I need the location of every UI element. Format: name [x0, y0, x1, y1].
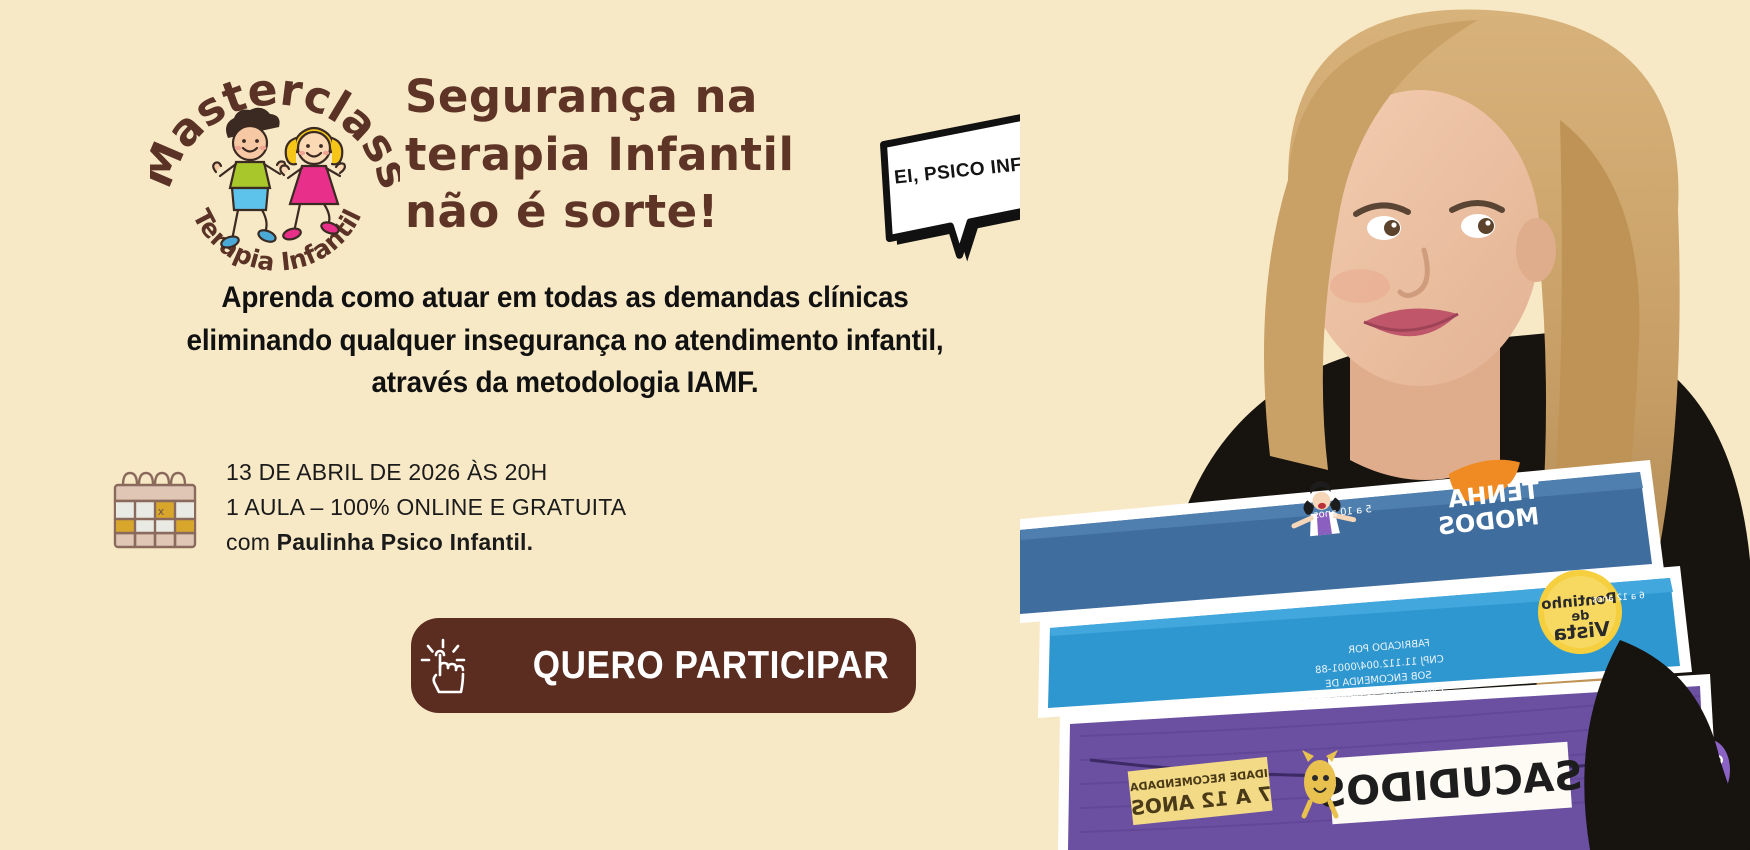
cta-button-label: QUERO PARTICIPAR: [532, 644, 888, 688]
subhead-paragraph: Aprenda como atuar em todas as demandas …: [95, 277, 1034, 405]
headline-line-1: Segurança na: [405, 68, 875, 126]
subhead-line-3: através da metodologia IAMF.: [95, 362, 1034, 405]
headline-line-2: terapia Infantil: [405, 126, 875, 184]
event-text-lines: 13 DE ABRIL DE 2026 ÀS 20H 1 AULA – 100%…: [226, 455, 626, 560]
event-host-name: Paulinha Psico Infantil.: [277, 529, 534, 555]
headline-line-3: não é sorte!: [405, 183, 875, 241]
quero-participar-button[interactable]: QUERO PARTICIPAR: [411, 618, 916, 713]
instructor-photo: TENHA MODOS 5 a 10 anos Pontinho de Vist…: [1020, 0, 1750, 850]
instructor-blush: [1330, 269, 1390, 303]
girl-illustration: [280, 128, 345, 241]
box-title-pontinho-3: Vista: [1552, 616, 1611, 645]
subhead-line-2: eliminando qualquer insegurança no atend…: [95, 320, 1034, 363]
event-host-prefix: com: [226, 529, 277, 555]
event-format: 1 AULA – 100% ONLINE E GRATUITA: [226, 490, 626, 525]
logo-bottom-arc-text: Terapia Infantil: [187, 204, 367, 272]
promo-banner: Masterclass Terapia Infantil: [0, 0, 1750, 850]
click-hand-cursor-icon: [419, 638, 467, 694]
calendar-icon: x: [108, 461, 204, 553]
event-date: 13 DE ABRIL DE 2026 ÀS 20H: [226, 455, 626, 490]
instructor-photo-svg: TENHA MODOS 5 a 10 anos Pontinho de Vist…: [1020, 0, 1750, 850]
instructor-ear: [1516, 218, 1556, 282]
event-info-block: x 13 DE ABRIL DE 2026 ÀS 20H 1 AULA – 10…: [108, 455, 626, 560]
logo-top-arc-text: Masterclass: [150, 64, 400, 195]
subhead-line-1: Aprenda como atuar em todas as demandas …: [95, 277, 1034, 320]
masterclass-logo: Masterclass Terapia Infantil: [150, 42, 400, 272]
event-host-line: com Paulinha Psico Infantil.: [226, 525, 626, 560]
logo-svg: Masterclass Terapia Infantil: [150, 42, 400, 272]
page-headline: Segurança na terapia Infantil não é sort…: [405, 68, 875, 241]
svg-text:x: x: [158, 505, 165, 518]
